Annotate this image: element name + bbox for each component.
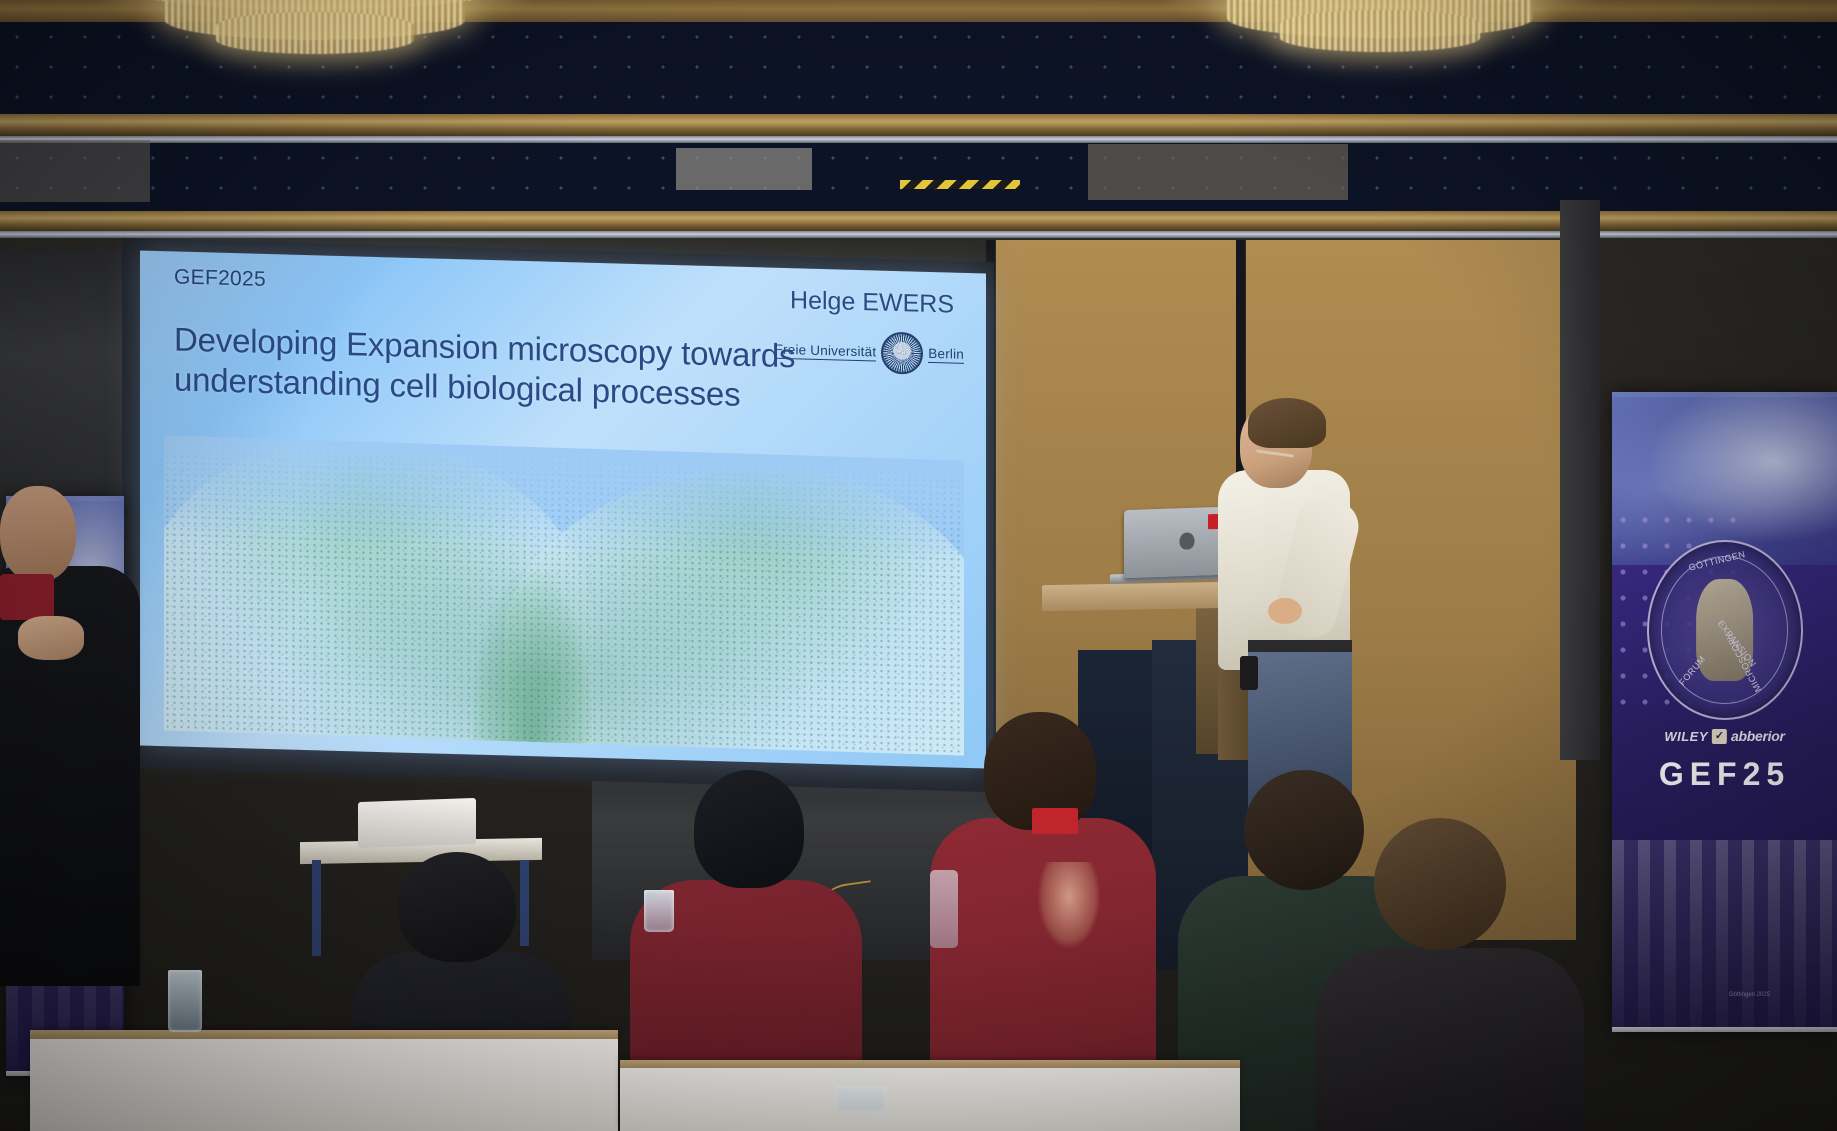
side-scrim-panel	[1560, 200, 1600, 760]
abberior-logo-text: abberior	[1731, 728, 1785, 744]
wiley-logo-text: WILEY	[1664, 729, 1708, 744]
phone-on-table	[836, 1086, 886, 1112]
checkmark-icon: ✓	[1712, 729, 1727, 744]
tshirt-goettingen-print	[1038, 862, 1100, 948]
projector-device	[358, 798, 476, 848]
foreground-table-center	[620, 1060, 1240, 1131]
expansion-microscopy-micrograph	[164, 435, 964, 755]
banner-sponsor-row: WILEY ✓ abberior	[1664, 728, 1784, 744]
ceiling-glass-strip-1	[0, 136, 1837, 143]
water-bottle	[930, 870, 958, 948]
seal-arc-text: MICROSCOPY FORUM GÖTTINGEN EXPANSION	[1649, 542, 1801, 718]
foreground-table-center-edge	[620, 1060, 1240, 1068]
projection-screen: GEF2025 Helge EWERS Freie Universität Be…	[140, 251, 986, 769]
rollup-banner-right: MICROSCOPY FORUM GÖTTINGEN EXPANSION WIL…	[1612, 392, 1837, 1032]
apple-logo-icon	[1180, 532, 1195, 550]
banner-cityscape-art	[1612, 840, 1837, 1032]
slide-speaker-name: Helge EWERS	[790, 286, 954, 319]
chandelier-right	[1180, 0, 1580, 66]
gef-seal-emblem: MICROSCOPY FORUM GÖTTINGEN EXPANSION	[1647, 540, 1803, 720]
ceiling-reflection-left	[0, 140, 150, 202]
lanyard-badge	[1032, 808, 1078, 834]
banner-event-code: GEF25	[1659, 756, 1790, 793]
banner-bottom-rail	[1612, 1027, 1837, 1032]
hazard-tape	[900, 180, 1020, 189]
banner-footer-note: Göttingen 2025	[1729, 991, 1824, 1000]
seal-word-forum: FORUM	[1676, 654, 1706, 688]
ceiling-reflection-right	[1088, 144, 1348, 200]
photo-scene: GEF2025 Helge EWERS Freie Universität Be…	[0, 0, 1837, 1131]
foreground-table-left	[30, 1030, 618, 1131]
water-glass-center	[644, 890, 674, 932]
slide-event-tag: GEF2025	[174, 265, 266, 291]
ceiling-equipment-box	[676, 148, 812, 190]
fu-university-line2: Berlin	[928, 345, 964, 363]
water-glass-left	[168, 970, 202, 1032]
seal-word-goettingen: GÖTTINGEN	[1687, 549, 1746, 573]
projector-table-leg-right	[520, 860, 529, 946]
projector-table-leg-left	[312, 860, 321, 956]
belt-mic-transmitter	[1240, 656, 1258, 690]
ceiling-beam-upper	[0, 114, 1837, 136]
fu-berlin-logo: Freie Universität Berlin	[775, 329, 964, 376]
fu-berlin-seal-icon	[881, 332, 923, 375]
chandelier-left	[120, 0, 510, 70]
foreground-table-left-edge	[30, 1030, 618, 1039]
